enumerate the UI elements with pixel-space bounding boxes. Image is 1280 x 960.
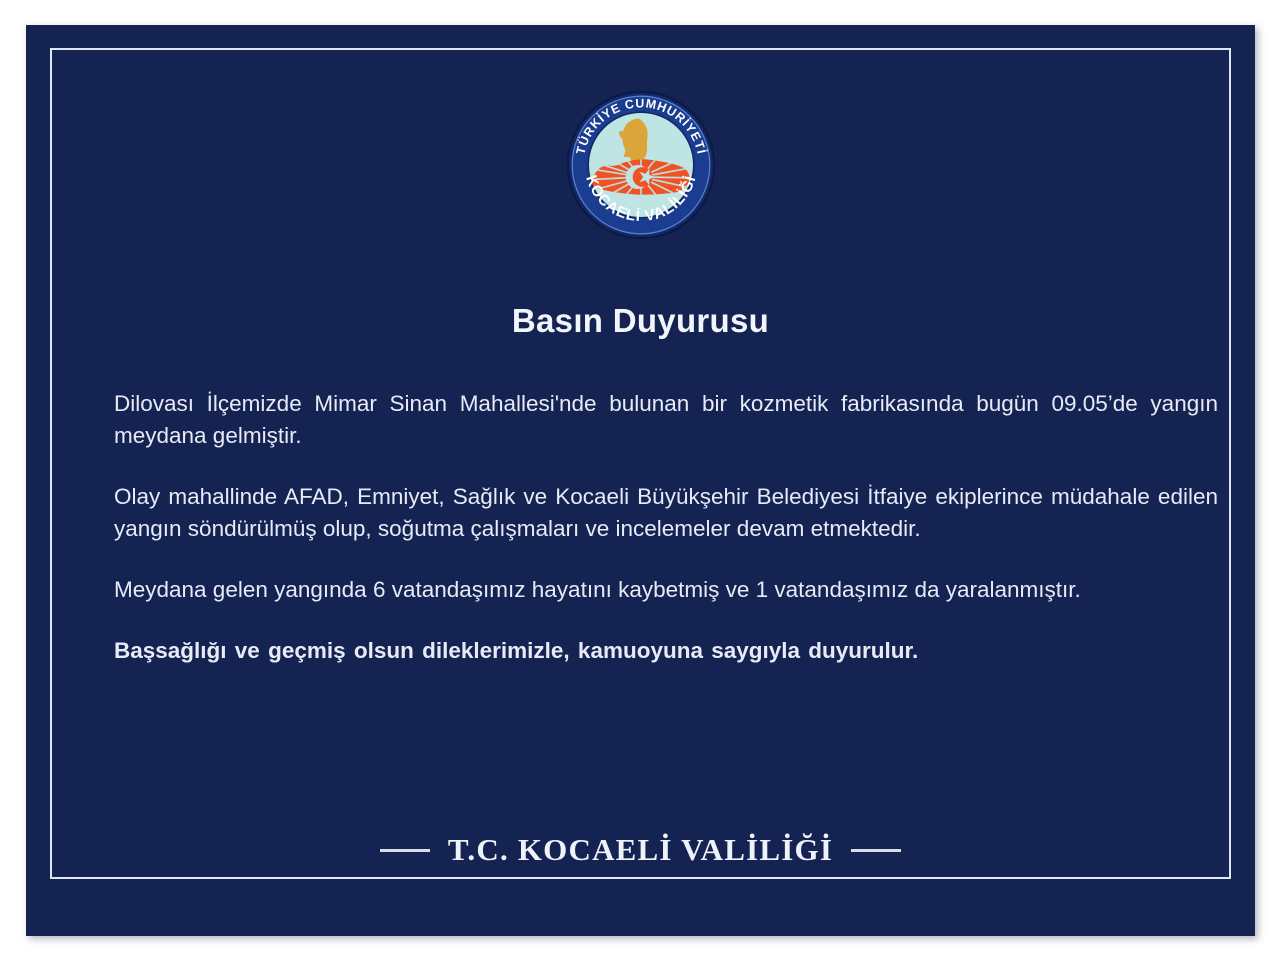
footer-organization-name: T.C. KOCAELİ VALİLİĞİ — [448, 832, 833, 868]
announcement-body: Dilovası İlçemizde Mimar Sinan Mahallesi… — [114, 388, 1218, 667]
kocaeli-governorship-emblem-icon: TÜRKİYE CUMHURİYETİ KOCAELİ VALİLİĞİ — [561, 85, 721, 245]
footer-rule-left — [380, 849, 430, 852]
paragraph-2: Olay mahallinde AFAD, Emniyet, Sağlık ve… — [114, 481, 1218, 545]
closing-statement: Başsağlığı ve geçmiş olsun dileklerimizl… — [114, 635, 1218, 667]
paragraph-3: Meydana gelen yangında 6 vatandaşımız ha… — [114, 574, 1218, 606]
paragraph-1: Dilovası İlçemizde Mimar Sinan Mahallesi… — [114, 388, 1218, 452]
press-release-page: TÜRKİYE CUMHURİYETİ KOCAELİ VALİLİĞİ Bas… — [0, 0, 1280, 960]
announcement-card: TÜRKİYE CUMHURİYETİ KOCAELİ VALİLİĞİ Bas… — [26, 25, 1255, 936]
footer-rule-right — [851, 849, 901, 852]
page-title: Basın Duyurusu — [26, 302, 1255, 340]
emblem-container: TÜRKİYE CUMHURİYETİ KOCAELİ VALİLİĞİ — [26, 85, 1255, 245]
footer: T.C. KOCAELİ VALİLİĞİ — [26, 832, 1255, 868]
